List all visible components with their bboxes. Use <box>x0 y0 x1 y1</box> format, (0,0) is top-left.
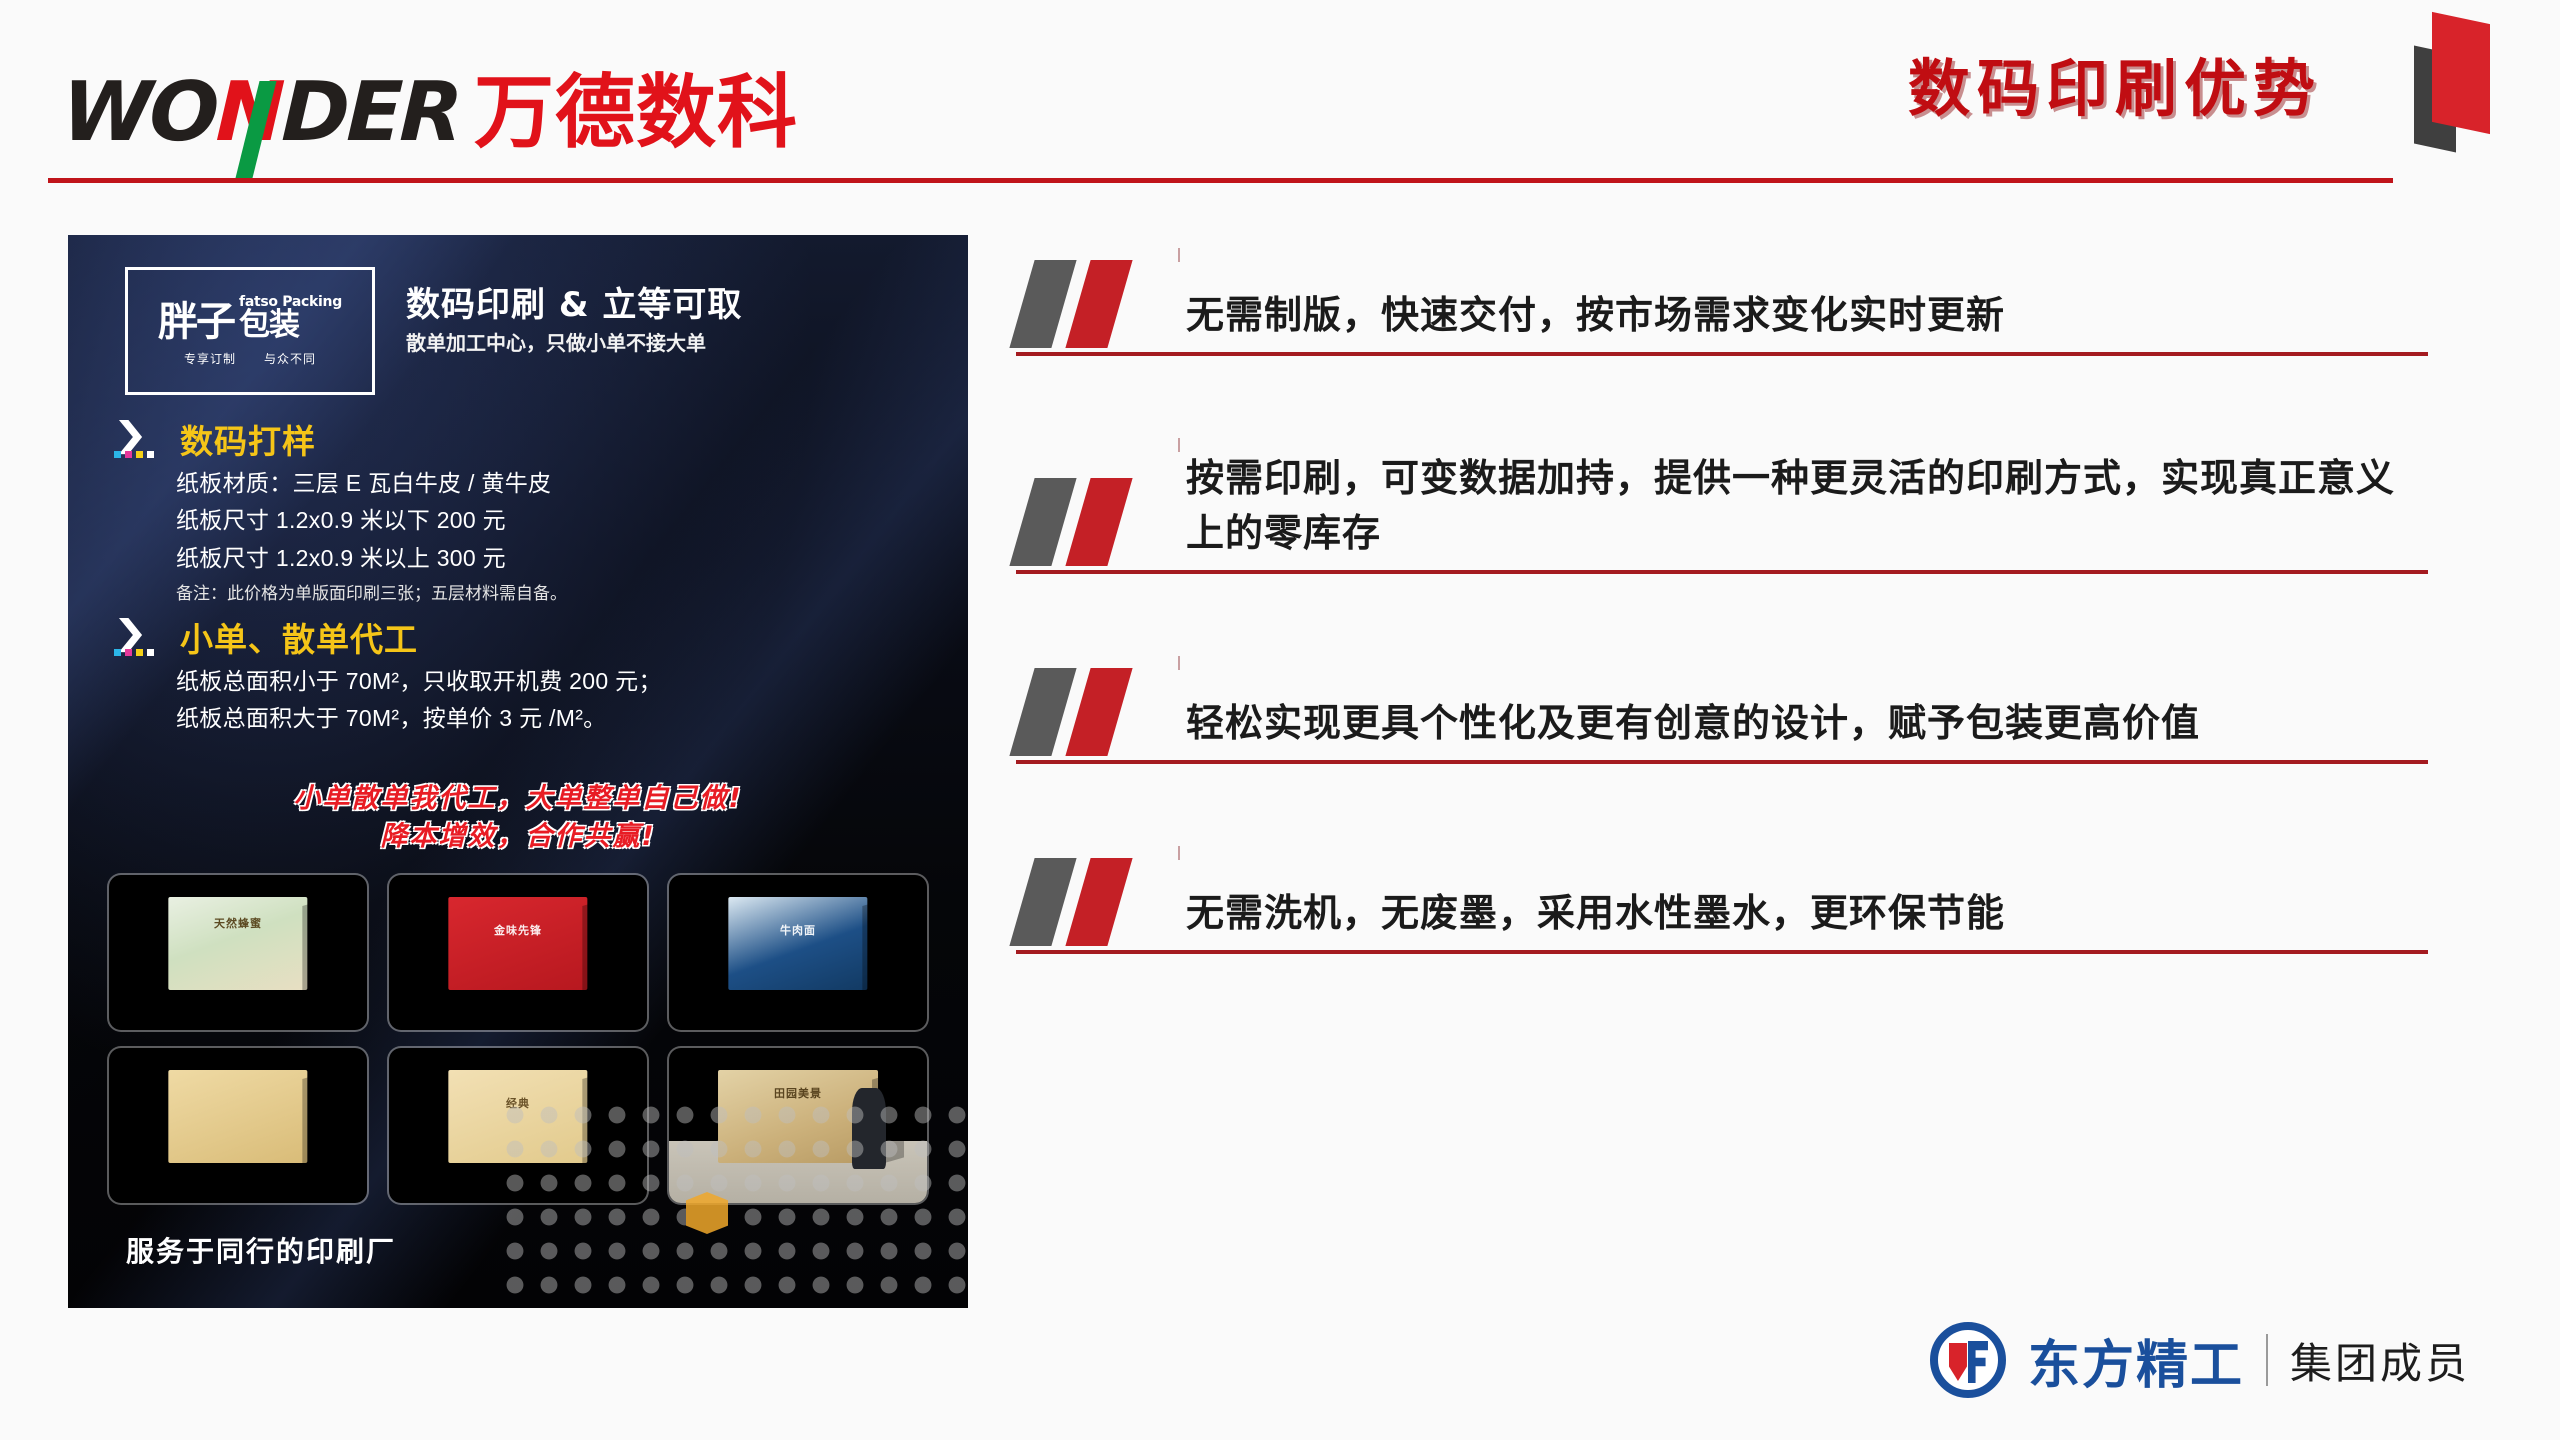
poster-photo-label: 金味先锋 <box>494 922 542 938</box>
poster-brand-chinese: 包装 <box>239 309 299 342</box>
logo-shield-shape <box>1949 1343 1967 1381</box>
poster-photo-person <box>852 1088 886 1169</box>
brand-latin-post: DER <box>280 65 462 160</box>
advantage-item: 无需洗机，无废墨，采用水性墨水，更环保节能 <box>1008 860 2428 954</box>
promo-poster: 胖子 fatso Packing 包装 专享订制 与众不同 数码印刷 & 立等可… <box>68 235 968 1308</box>
footer-membership-label: 集团成员 <box>2290 1330 2470 1391</box>
poster-slogan: 小单散单我代工，大单整单自己做! 降本增效，合作共赢! <box>68 780 968 857</box>
slide-header: WONDER 万德数科 数码印刷优势 <box>0 0 2560 200</box>
poster-photo-label: 牛肉面 <box>780 922 816 938</box>
poster-slogan-line-2: 降本增效，合作共赢! <box>68 818 968 856</box>
marker-gray-bar <box>1009 260 1076 348</box>
poster-section-line: 纸板尺寸 1.2x0.9 米以下 200 元 <box>176 502 922 539</box>
corner-mark-red-panel <box>2432 12 2490 134</box>
advantage-text: 轻松实现更具个性化及更有创意的设计，赋予包装更高价值 <box>1186 697 2200 752</box>
poster-section-digital-proofing: ❯ 数码打样 纸板材质：三层 E 瓦白牛皮 / 黄牛皮 纸板尺寸 1.2x0.9… <box>112 415 922 607</box>
angled-panels-mark-icon <box>2404 8 2514 158</box>
brand-logo-cjk: 万德数科 <box>474 48 798 164</box>
poster-photo-label: 经典 <box>506 1095 530 1111</box>
poster-photo: 经典 <box>389 1048 647 1203</box>
dongfang-circle-f-icon <box>1930 1322 2006 1398</box>
double-slash-marker-icon <box>1016 858 1176 946</box>
brand-logo: WONDER 万德数科 <box>62 48 798 164</box>
poster-section-line: 纸板材质：三层 E 瓦白牛皮 / 黄牛皮 <box>176 465 922 502</box>
advantage-text: 无需洗机，无废墨，采用水性墨水，更环保节能 <box>1186 887 2005 942</box>
poster-section-small-orders: ❯ 小单、散单代工 纸板总面积小于 70M²，只收取开机费 200 元； 纸板总… <box>112 613 922 738</box>
poster-photo-grid: 天然蜂蜜 金味先锋 牛肉面 经典 田园美景 <box>109 875 927 1203</box>
chevron-cmyk-icon: ❯ <box>112 416 170 462</box>
marker-red-bar <box>1065 478 1132 566</box>
footer-logo: 东方精工 集团成员 <box>1930 1322 2470 1398</box>
advantage-item: 无需制版，快速交付，按市场需求变化实时更新 <box>1008 262 2428 356</box>
poster-brand-mark: 胖子 <box>158 303 234 341</box>
poster-section-title: 数码打样 <box>180 415 316 463</box>
poster-slogan-line-1: 小单散单我代工，大单整单自己做! <box>68 780 968 818</box>
poster-section-line: 纸板总面积小于 70M²，只收取开机费 200 元； <box>176 663 922 700</box>
poster-tagline-right: 与众不同 <box>264 350 316 367</box>
poster-section-line: 纸板总面积大于 70M²，按单价 3 元 /M²。 <box>176 700 922 737</box>
advantage-underline <box>1016 352 2428 356</box>
poster-section-line: 纸板尺寸 1.2x0.9 米以上 300 元 <box>176 540 922 577</box>
advantage-tick <box>1178 846 1180 860</box>
brand-logo-latin: WONDER <box>60 65 461 160</box>
advantage-item: 按需印刷，可变数据加持，提供一种更灵活的印刷方式，实现真正意义上的零库存 <box>1008 452 2428 574</box>
double-slash-marker-icon <box>1016 260 1176 348</box>
footer-separator <box>2266 1334 2268 1386</box>
advantage-item: 轻松实现更具个性化及更有创意的设计，赋予包装更高价值 <box>1008 670 2428 764</box>
brand-latin-pre: WO <box>60 65 217 160</box>
poster-photo: 牛肉面 <box>669 875 927 1030</box>
footer-company-name: 东方精工 <box>2028 1323 2244 1398</box>
advantage-text: 无需制版，快速交付，按市场需求变化实时更新 <box>1186 289 2005 344</box>
poster-section-title: 小单、散单代工 <box>180 613 418 661</box>
advantage-underline <box>1016 760 2428 764</box>
poster-brand-tagline: 专享订制 与众不同 <box>184 350 316 367</box>
poster-photo: 田园美景 <box>669 1048 927 1203</box>
header-divider <box>48 178 2393 183</box>
page-title: 数码印刷优势 <box>1908 38 2322 128</box>
advantage-list: 无需制版，快速交付，按市场需求变化实时更新 按需印刷，可变数据加持，提供一种更灵… <box>1008 262 2428 954</box>
poster-brand-logo: 胖子 fatso Packing 包装 专享订制 与众不同 <box>125 267 375 395</box>
poster-headline: 数码印刷 & 立等可取 <box>406 277 742 326</box>
double-slash-marker-icon <box>1016 668 1176 756</box>
advantage-underline <box>1016 950 2428 954</box>
marker-gray-bar <box>1009 668 1076 756</box>
marker-gray-bar <box>1009 478 1076 566</box>
logo-f-shape <box>1968 1341 1988 1383</box>
poster-tagline-left: 专享订制 <box>184 350 236 367</box>
advantage-tick <box>1178 438 1180 452</box>
poster-photo <box>109 1048 367 1203</box>
poster-subline: 散单加工中心，只做小单不接大单 <box>406 327 706 356</box>
advantage-underline <box>1016 570 2428 574</box>
marker-gray-bar <box>1009 858 1076 946</box>
poster-photo: 金味先锋 <box>389 875 647 1030</box>
advantage-text: 按需印刷，可变数据加持，提供一种更灵活的印刷方式，实现真正意义上的零库存 <box>1186 452 2428 562</box>
advantage-tick <box>1178 656 1180 670</box>
poster-footnote: 服务于同行的印刷厂 <box>126 1230 396 1270</box>
marker-red-bar <box>1065 668 1132 756</box>
marker-red-bar <box>1065 858 1132 946</box>
poster-photo-label: 天然蜂蜜 <box>214 915 262 931</box>
advantage-tick <box>1178 248 1180 262</box>
marker-red-bar <box>1065 260 1132 348</box>
poster-photo-label: 田园美景 <box>774 1085 822 1101</box>
chevron-cmyk-icon: ❯ <box>112 614 170 660</box>
poster-section-note: 备注：此价格为单版面印刷三张；五层材料需自备。 <box>176 580 922 607</box>
poster-photo: 天然蜂蜜 <box>109 875 367 1030</box>
double-slash-marker-icon <box>1016 478 1176 566</box>
